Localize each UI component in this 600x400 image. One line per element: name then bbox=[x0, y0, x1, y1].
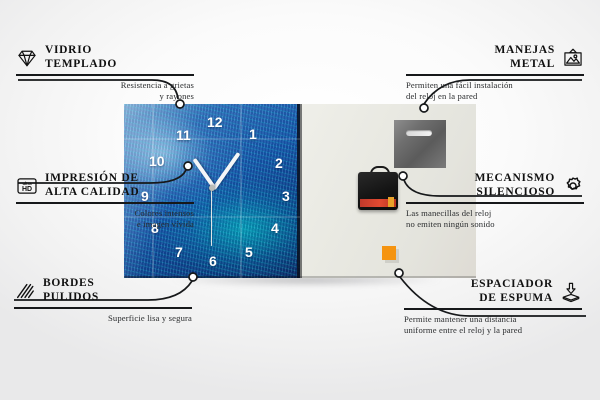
feature-header: VIDRIO TEMPLADO bbox=[16, 44, 194, 71]
feature-description: Resistencia a grietas y rayones bbox=[16, 80, 194, 103]
feature-bordes-pulidos[interactable]: BORDES PULIDOS Superficie lisa y segura bbox=[14, 277, 192, 324]
minute-hand bbox=[212, 152, 241, 190]
clock-numeral-11: 11 bbox=[176, 128, 191, 142]
feature-title: VIDRIO TEMPLADO bbox=[45, 44, 117, 71]
feature-title: MANEJAS METAL bbox=[495, 44, 556, 71]
feature-espaciador-de-espuma[interactable]: ESPACIADOR DE ESPUMA Permite mantener un… bbox=[404, 278, 582, 336]
clock-numeral-4: 4 bbox=[271, 221, 279, 235]
feature-header: BORDES PULIDOS bbox=[14, 277, 192, 304]
feature-underline bbox=[16, 74, 194, 76]
feature-title: MECANISMO SILENCIOSO bbox=[475, 172, 555, 199]
feature-description: Permiten una fácil instalación del reloj… bbox=[406, 80, 584, 103]
clock-numeral-12: 12 bbox=[207, 115, 223, 129]
foam-spacer-square bbox=[382, 246, 396, 260]
ultra-hd-icon: ultra HD bbox=[16, 175, 38, 197]
feature-vidrio-templado[interactable]: VIDRIO TEMPLADO Resistencia a grietas y … bbox=[16, 44, 194, 102]
diamond-icon bbox=[16, 47, 38, 69]
gear-icon bbox=[562, 175, 584, 197]
picture-hanger-icon bbox=[562, 47, 584, 69]
feature-title: IMPRESIÓN DE ALTA CALIDAD bbox=[45, 172, 139, 199]
feature-description: Superficie lisa y segura bbox=[14, 313, 192, 324]
feature-underline bbox=[14, 307, 192, 309]
hour-hand bbox=[192, 158, 215, 188]
clock-numeral-10: 10 bbox=[149, 154, 165, 168]
feature-header: ESPACIADOR DE ESPUMA bbox=[404, 278, 582, 305]
clock-numeral-6: 6 bbox=[209, 254, 217, 268]
clock-numeral-3: 3 bbox=[282, 189, 290, 203]
mechanism-chip bbox=[388, 197, 394, 207]
feature-impresion-alta-calidad[interactable]: ultra HD IMPRESIÓN DE ALTA CALIDAD Color… bbox=[16, 172, 194, 230]
svg-text:HD: HD bbox=[22, 186, 32, 193]
clock-numeral-5: 5 bbox=[245, 245, 253, 259]
feature-underline bbox=[406, 74, 584, 76]
feature-manejas-metal[interactable]: MANEJAS METAL Permiten una fácil instala… bbox=[406, 44, 584, 102]
feature-underline bbox=[406, 202, 584, 204]
hanger-slot bbox=[406, 130, 432, 136]
clock-numeral-2: 2 bbox=[275, 156, 283, 170]
foam-spacer-icon bbox=[560, 281, 582, 303]
polished-edges-icon bbox=[14, 280, 36, 302]
feature-description: Colores intensos e imagen vívida bbox=[16, 208, 194, 231]
infographic-canvas: 12 1 2 3 4 5 6 7 8 9 10 11 bbox=[0, 0, 600, 400]
feature-description: Permite mantener una distancia uniforme … bbox=[404, 314, 582, 337]
feature-description: Las manecillas del reloj no emiten ningú… bbox=[406, 208, 584, 231]
feature-header: MANEJAS METAL bbox=[406, 44, 584, 71]
clock-numeral-1: 1 bbox=[249, 127, 257, 141]
clock-numeral-7: 7 bbox=[175, 245, 183, 259]
metal-hanger-plate bbox=[394, 120, 446, 168]
feature-underline bbox=[404, 308, 582, 310]
hands-center-cap bbox=[209, 185, 215, 191]
second-hand bbox=[211, 188, 212, 246]
feature-title: ESPACIADOR DE ESPUMA bbox=[471, 278, 553, 305]
feature-mecanismo-silencioso[interactable]: MECANISMO SILENCIOSO Las manecillas del … bbox=[406, 172, 584, 230]
feature-underline bbox=[16, 202, 194, 204]
feature-header: ultra HD IMPRESIÓN DE ALTA CALIDAD bbox=[16, 172, 194, 199]
feature-title: BORDES PULIDOS bbox=[43, 277, 99, 304]
feature-header: MECANISMO SILENCIOSO bbox=[406, 172, 584, 199]
